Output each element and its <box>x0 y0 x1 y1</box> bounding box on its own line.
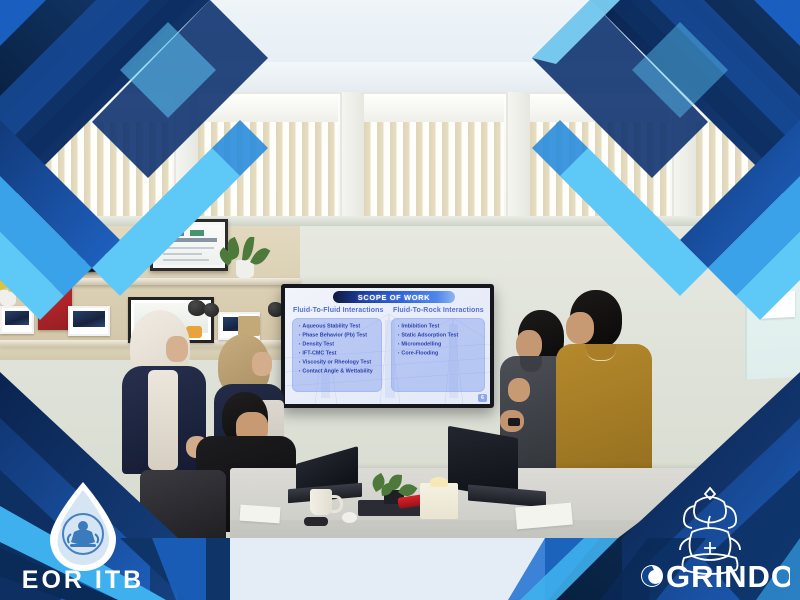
red-display-board <box>38 286 72 330</box>
presentation-screen: SCOPE OF WORK Fluid-To-Fluid Interaction… <box>281 284 494 408</box>
slide-title: SCOPE OF WORK <box>358 293 430 302</box>
slide-list-item: Density Test <box>299 342 377 348</box>
slide-panel-fluid-fluid: Aqueous Stability Test Phase Behavior (P… <box>292 318 382 392</box>
slide-list-item: Micromodelling <box>398 342 480 348</box>
smartphone <box>304 517 328 526</box>
slide-column-heading-right: Fluid-To-Rock Interactions <box>393 307 484 314</box>
coffee-mug <box>310 489 332 515</box>
tissue-sheet <box>430 477 448 487</box>
photo-frame <box>0 306 34 334</box>
slide-column-heading-left: Fluid-To-Fluid Interactions <box>293 307 383 314</box>
slide-list-item: Static Adsorption Test <box>398 333 480 339</box>
wooden-box <box>238 316 260 336</box>
digital-wall-clock: 17:19 <box>65 241 126 273</box>
globe-swirl-icon <box>641 565 663 587</box>
grindo-wordmark: GRINDO <box>666 559 790 592</box>
slide-panel-fluid-rock: Imbibition Test Static Adsorption Test M… <box>391 318 485 392</box>
slide-list-item: IFT-CMC Test <box>299 351 377 357</box>
slide-list-item: Contact Angle & Wettability <box>299 369 377 375</box>
slide-title-banner: SCOPE OF WORK <box>333 291 455 303</box>
paper-sheet <box>239 505 280 524</box>
rock-sample <box>204 303 219 317</box>
shelf-board-upper <box>0 278 300 285</box>
tissue-box <box>420 483 458 519</box>
earbuds-case <box>342 512 357 523</box>
water-droplet-icon <box>50 482 116 571</box>
slide-list-item: Aqueous Stability Test <box>299 324 377 330</box>
accreditation-certificate <box>150 219 228 271</box>
grindo-logo: GRINDO <box>630 480 790 592</box>
photo-frame <box>68 306 110 336</box>
slide-list-item: Imbibition Test <box>398 324 480 330</box>
slide: SCOPE OF WORK Fluid-To-Fluid Interaction… <box>285 288 490 404</box>
whiteboard-note: WIP <box>753 231 778 248</box>
slide-list-item: Viscosity or Rheology Test <box>299 360 377 366</box>
slide-list-item: Phase Behavior (Pb) Test <box>299 333 377 339</box>
slide-page-number: 6 <box>478 394 487 402</box>
window-ledge <box>0 216 800 226</box>
whiteboard: WIP <box>745 216 800 379</box>
slide-list-item: Core-Flooding <box>398 351 480 357</box>
photo-card: 17:19 WIP <box>0 0 800 600</box>
eor-itb-wordmark: EOR ITB <box>22 566 144 594</box>
eor-itb-logo: EOR ITB <box>8 476 158 594</box>
whiteboard-paper <box>761 291 795 319</box>
clock-time: 17:19 <box>67 246 126 266</box>
